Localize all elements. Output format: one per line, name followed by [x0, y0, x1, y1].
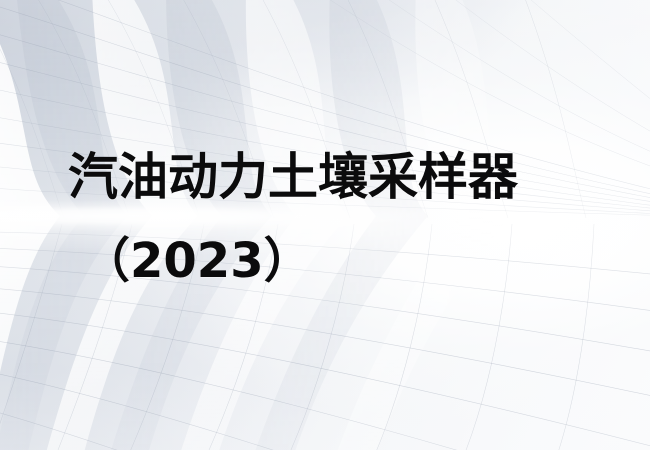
slide-title-block: 汽油动力土壤采样器 （2023）: [0, 0, 650, 450]
slide-title-line-1: 汽油动力土壤采样器: [68, 148, 518, 206]
title-slide: 汽油动力土壤采样器 （2023）: [0, 0, 650, 450]
slide-title-line-2: （2023）: [82, 232, 312, 290]
